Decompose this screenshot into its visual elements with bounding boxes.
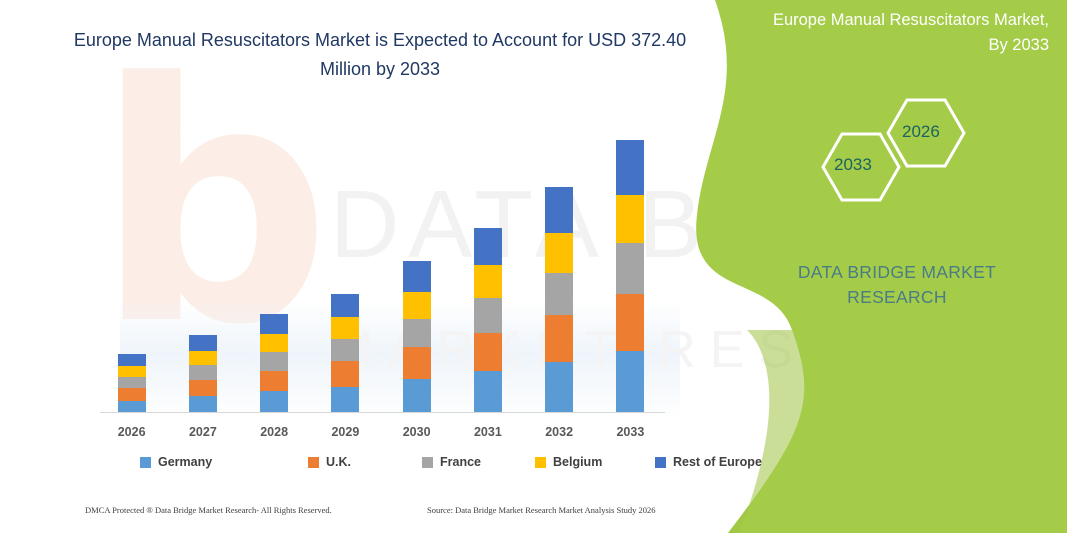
bar-segment-belgium-2028 <box>260 334 288 352</box>
panel-title: Europe Manual Resuscitators Market, By 2… <box>767 8 1049 58</box>
bar-segment-belgium-2032 <box>545 233 573 273</box>
x-axis-label-2029: 2029 <box>323 425 367 439</box>
legend-label: Belgium <box>553 455 602 469</box>
x-axis-label-2031: 2031 <box>466 425 510 439</box>
x-axis-label-2026: 2026 <box>110 425 154 439</box>
bar-segment-rest-of-europe-2032 <box>545 187 573 232</box>
bar-segment-france-2028 <box>260 352 288 371</box>
bar-segment-rest-of-europe-2031 <box>474 228 502 265</box>
infographic-root: b DATA BRIDGE MARKET RESEARCH Europe Man… <box>0 0 1067 533</box>
hexagon-label-2033: 2033 <box>834 155 872 175</box>
x-axis-label-2028: 2028 <box>252 425 296 439</box>
bar-segment-u-k--2028 <box>260 371 288 392</box>
bar-segment-france-2029 <box>331 339 359 361</box>
bar-segment-belgium-2027 <box>189 351 217 365</box>
x-axis-label-2027: 2027 <box>181 425 225 439</box>
bar-column-2033 <box>616 140 644 413</box>
green-panel-content: Europe Manual Resuscitators Market, By 2… <box>687 0 1067 533</box>
bar-segment-france-2026 <box>118 377 146 389</box>
hexagon-outlines-icon <box>812 95 992 210</box>
chart-legend: GermanyU.K.FranceBelgiumRest of Europe <box>100 455 670 477</box>
bar-segment-germany-2027 <box>189 396 217 413</box>
bar-segment-belgium-2030 <box>403 292 431 319</box>
bar-segment-belgium-2033 <box>616 195 644 244</box>
bar-column-2027 <box>189 335 217 413</box>
legend-swatch-icon <box>308 457 319 468</box>
legend-item-u-k-[interactable]: U.K. <box>308 455 351 469</box>
bar-column-2029 <box>331 294 359 413</box>
x-axis-label-2030: 2030 <box>395 425 439 439</box>
bar-column-2026 <box>118 354 146 413</box>
footer: DMCA Protected ® Data Bridge Market Rese… <box>0 505 700 525</box>
bar-column-2032 <box>545 187 573 413</box>
x-axis-line <box>100 412 665 413</box>
legend-swatch-icon <box>655 457 666 468</box>
bar-segment-germany-2028 <box>260 391 288 413</box>
bar-segment-u-k--2031 <box>474 333 502 372</box>
bar-segment-france-2027 <box>189 365 217 380</box>
bar-segment-rest-of-europe-2028 <box>260 314 288 334</box>
footer-source: Source: Data Bridge Market Research Mark… <box>427 505 656 515</box>
bar-segment-belgium-2026 <box>118 366 146 377</box>
chart-plot-area <box>100 120 670 413</box>
legend-label: France <box>440 455 481 469</box>
bar-segment-belgium-2029 <box>331 317 359 339</box>
legend-swatch-icon <box>535 457 546 468</box>
legend-item-france[interactable]: France <box>422 455 481 469</box>
legend-label: U.K. <box>326 455 351 469</box>
bar-segment-germany-2030 <box>403 379 431 413</box>
bar-segment-germany-2029 <box>331 387 359 413</box>
legend-item-germany[interactable]: Germany <box>140 455 212 469</box>
bar-segment-france-2033 <box>616 243 644 294</box>
bar-segment-u-k--2030 <box>403 347 431 379</box>
hexagon-badges: 2033 2026 <box>812 95 992 210</box>
bar-segment-u-k--2027 <box>189 380 217 396</box>
bar-segment-u-k--2033 <box>616 294 644 351</box>
bar-segment-france-2031 <box>474 298 502 333</box>
x-axis-label-2033: 2033 <box>608 425 652 439</box>
bar-segment-rest-of-europe-2029 <box>331 294 359 318</box>
bar-segment-germany-2031 <box>474 371 502 413</box>
footer-copyright: DMCA Protected ® Data Bridge Market Rese… <box>85 505 332 515</box>
bar-column-2028 <box>260 314 288 413</box>
bar-segment-germany-2033 <box>616 351 644 413</box>
bar-segment-france-2032 <box>545 273 573 315</box>
bar-column-2030 <box>403 261 431 413</box>
bar-segment-u-k--2026 <box>118 388 146 400</box>
bar-segment-rest-of-europe-2033 <box>616 140 644 195</box>
bar-segment-belgium-2031 <box>474 265 502 298</box>
bar-segment-rest-of-europe-2030 <box>403 261 431 292</box>
legend-swatch-icon <box>140 457 151 468</box>
x-axis-labels: 20262027202820292030203120322033 <box>100 425 670 445</box>
legend-label: Germany <box>158 455 212 469</box>
stacked-bar-chart: 20262027202820292030203120322033 Germany… <box>0 0 700 533</box>
bar-segment-rest-of-europe-2026 <box>118 354 146 366</box>
bar-column-2031 <box>474 228 502 413</box>
bar-segment-rest-of-europe-2027 <box>189 335 217 351</box>
legend-item-belgium[interactable]: Belgium <box>535 455 602 469</box>
bar-segment-germany-2032 <box>545 362 573 413</box>
bar-segment-u-k--2032 <box>545 315 573 362</box>
x-axis-label-2032: 2032 <box>537 425 581 439</box>
bar-segment-u-k--2029 <box>331 361 359 386</box>
legend-swatch-icon <box>422 457 433 468</box>
panel-brand-text: DATA BRIDGE MARKET RESEARCH <box>747 260 1047 310</box>
hexagon-label-2026: 2026 <box>902 122 940 142</box>
bar-segment-france-2030 <box>403 319 431 348</box>
green-side-panel: Europe Manual Resuscitators Market, By 2… <box>687 0 1067 533</box>
